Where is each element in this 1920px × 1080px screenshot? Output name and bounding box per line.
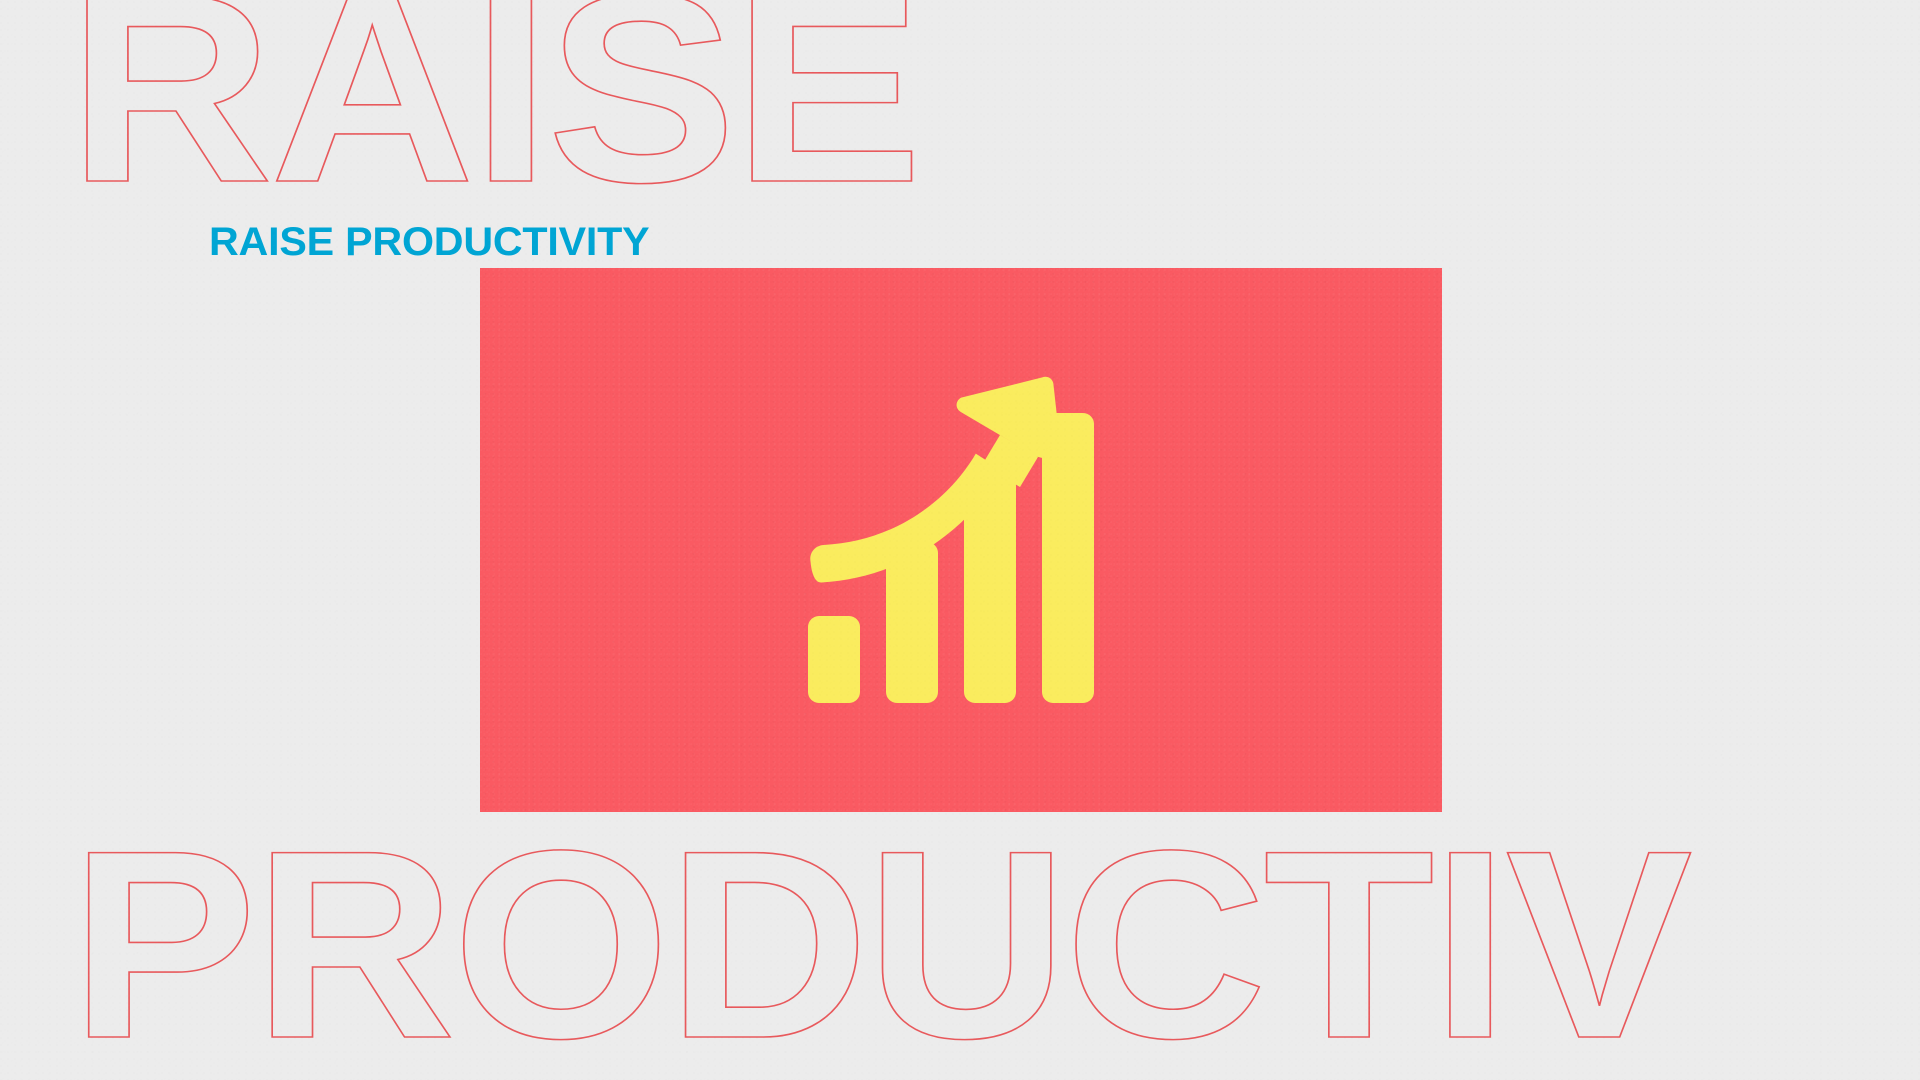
chart-bar-2	[886, 542, 938, 703]
page-title: RAISE PRODUCTIVITY	[209, 222, 649, 262]
chart-bar-4	[1042, 413, 1094, 703]
decorative-outline-word-bottom: PRODUCTIV	[70, 810, 1689, 1078]
growth-bar-chart-arrow-icon	[806, 375, 1116, 705]
feature-panel	[480, 268, 1442, 812]
decorative-outline-word-top: RAISE	[68, 0, 919, 222]
chart-bar-3	[964, 473, 1016, 703]
chart-bar-1	[808, 616, 860, 703]
